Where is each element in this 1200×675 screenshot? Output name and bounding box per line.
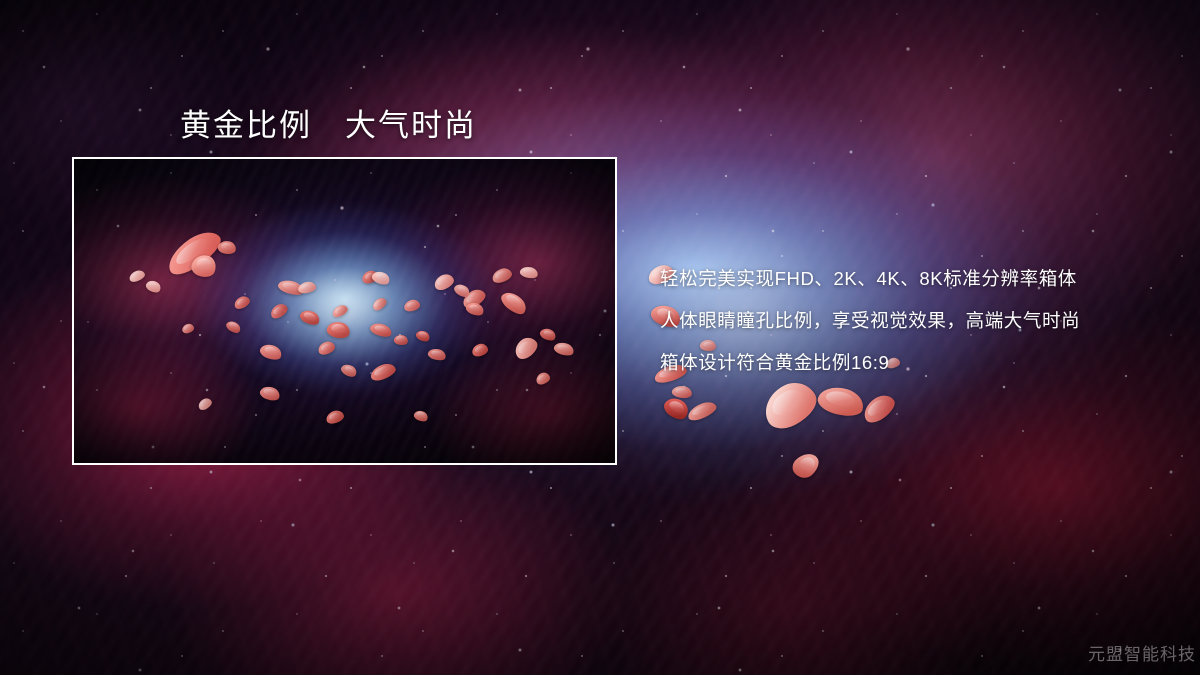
feature-description: 轻松完美实现FHD、2K、4K、8K标准分辨率箱体 人体眼睛瞳孔比例，享受视觉效… bbox=[660, 258, 1140, 384]
galaxy-preview-frame[interactable] bbox=[72, 157, 617, 465]
slide-canvas: 黄金比例 大气时尚 轻松完美实现FHD、2K、4K、8K标准分辨率箱体 人体眼睛… bbox=[0, 0, 1200, 675]
description-line-1: 轻松完美实现FHD、2K、4K、8K标准分辨率箱体 bbox=[660, 258, 1140, 300]
page-title: 黄金比例 大气时尚 bbox=[180, 100, 477, 145]
description-line-2: 人体眼睛瞳孔比例，享受视觉效果，高端大气时尚 bbox=[660, 300, 1140, 342]
company-watermark: 元盟智能科技 bbox=[1088, 640, 1196, 665]
description-line-3: 箱体设计符合黄金比例16:9 bbox=[660, 342, 1140, 384]
